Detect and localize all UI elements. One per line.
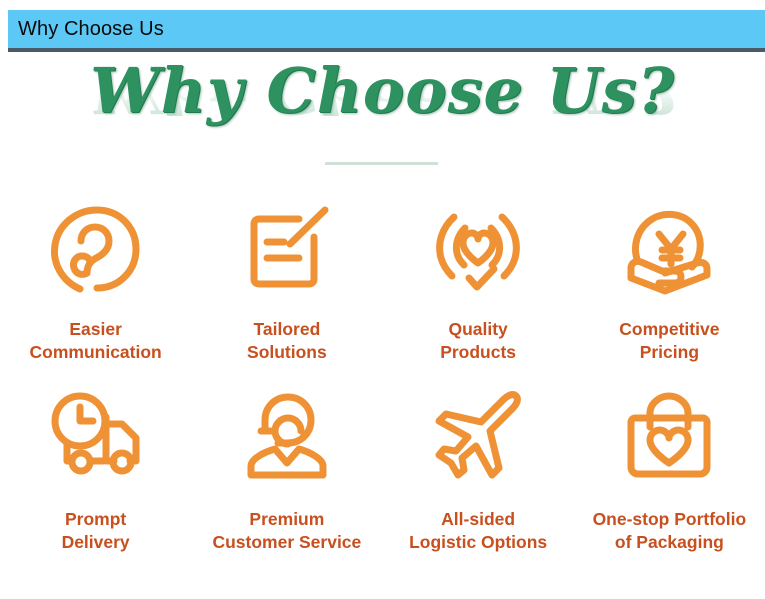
hero-section: Why Choose Us? Why Choose Us?: [0, 58, 765, 168]
headset-person-icon: [237, 382, 337, 492]
feature-item-one-stop-portfolio-of-packaging[interactable]: One-stop Portfolio of Packaging: [574, 382, 765, 572]
shopping-bag-heart-icon: [619, 382, 719, 492]
airplane-icon: [428, 382, 528, 492]
feature-item-prompt-delivery[interactable]: Prompt Delivery: [0, 382, 191, 572]
feature-item-quality-products[interactable]: Quality Products: [383, 196, 574, 382]
feature-item-premium-customer-service[interactable]: Premium Customer Service: [191, 382, 382, 572]
feature-label: All-sided Logistic Options: [409, 508, 547, 555]
feature-label: Quality Products: [440, 318, 516, 365]
feature-label: One-stop Portfolio of Packaging: [593, 508, 747, 555]
feature-item-competitive-pricing[interactable]: Competitive Pricing: [574, 196, 765, 382]
features-grid: Easier Communication Tailored Solutions: [0, 196, 765, 572]
hero-heading-wrapper: Why Choose Us? Why Choose Us?: [90, 58, 675, 123]
why-choose-us-page: Why Choose Us Why Choose Us? Why Choose …: [0, 0, 765, 599]
hand-holding-yen-coin-icon: [619, 196, 719, 306]
feature-item-easier-communication[interactable]: Easier Communication: [0, 196, 191, 382]
feature-item-all-sided-logistic-options[interactable]: All-sided Logistic Options: [383, 382, 574, 572]
window-title: Why Choose Us: [18, 19, 164, 39]
window-title-bar: Why Choose Us: [8, 10, 765, 52]
feature-label: Prompt Delivery: [62, 508, 130, 555]
ear-in-circle-icon: [46, 196, 146, 306]
feature-label: Premium Customer Service: [212, 508, 361, 555]
delivery-truck-clock-icon: [46, 382, 146, 492]
page-title: Why Choose Us?: [90, 54, 675, 127]
heading-divider: [325, 162, 438, 165]
heart-check-soundwaves-icon: [428, 196, 528, 306]
feature-label: Easier Communication: [30, 318, 162, 365]
feature-label: Tailored Solutions: [247, 318, 327, 365]
document-pencil-icon: [237, 196, 337, 306]
feature-label: Competitive Pricing: [619, 318, 719, 365]
feature-item-tailored-solutions[interactable]: Tailored Solutions: [191, 196, 382, 382]
